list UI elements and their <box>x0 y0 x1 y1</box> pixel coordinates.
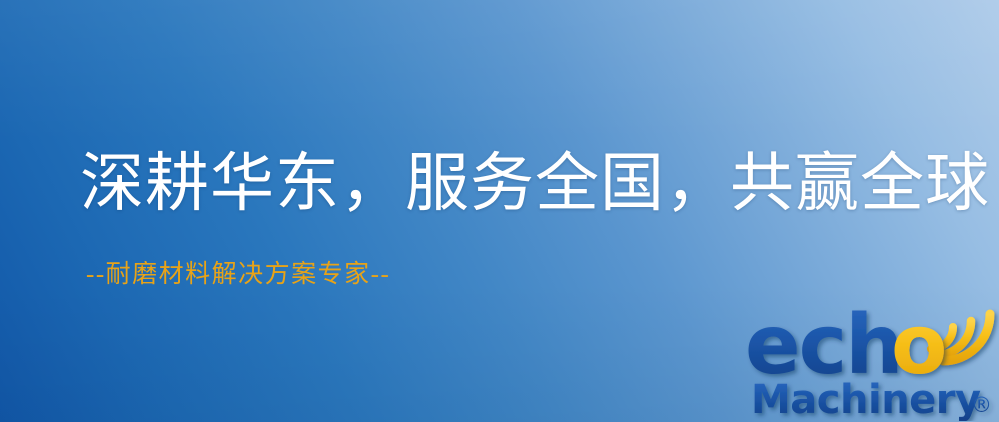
logo-registered-mark: ® <box>971 393 992 417</box>
echo-machinery-logo[interactable]: ech o Machinery ® <box>745 293 999 421</box>
banner-headline: 深耕华东，服务全国，共赢全球 <box>80 152 990 216</box>
logo-tagline: Machinery <box>751 377 981 421</box>
banner-subheadline: --耐磨材料解决方案专家-- <box>86 262 390 287</box>
promotional-banner: 深耕华东，服务全国，共赢全球 --耐磨材料解决方案专家-- <box>0 0 999 422</box>
